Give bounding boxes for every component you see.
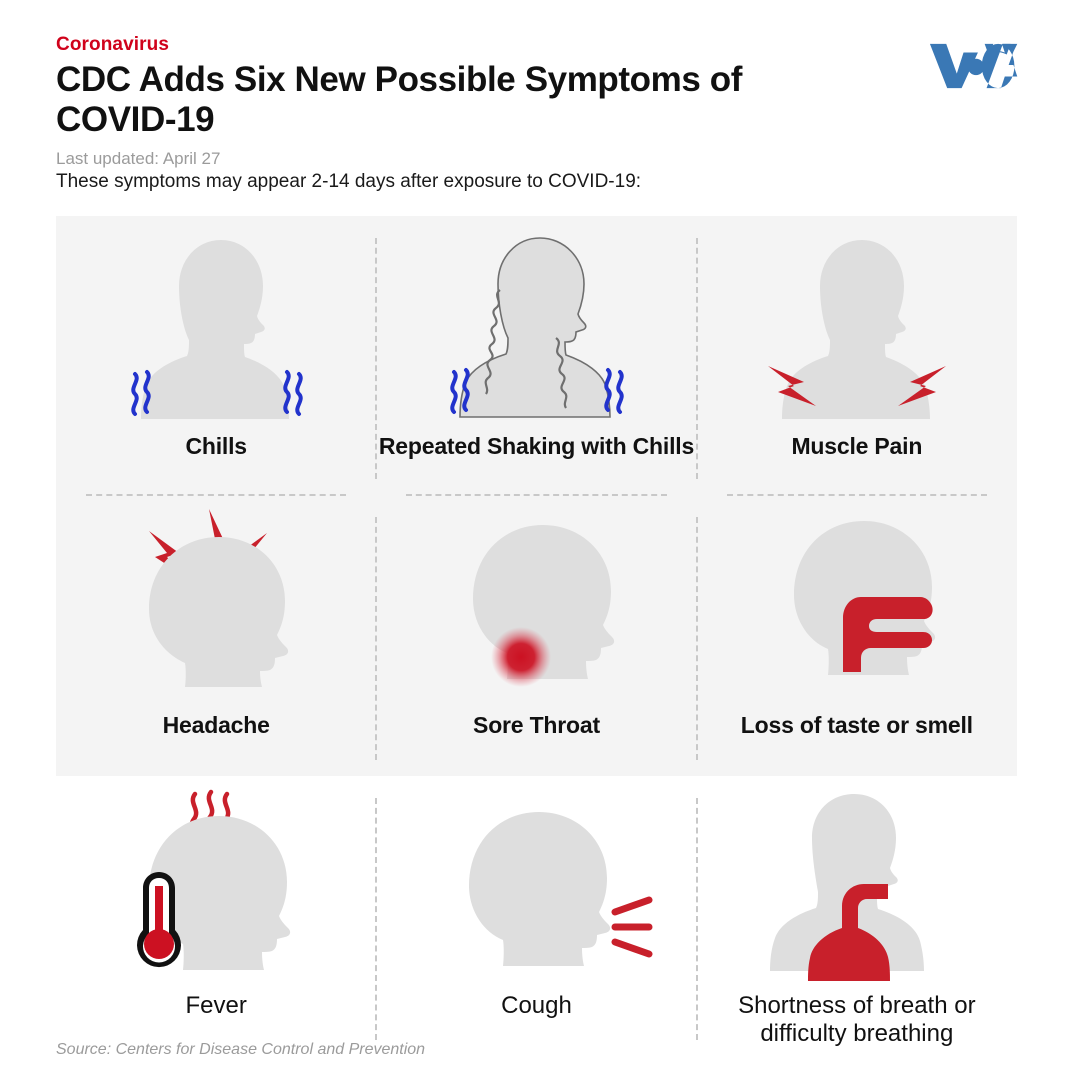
source-note: Source: Centers for Disease Control and … (56, 1040, 425, 1060)
symptom-label: Muscle Pain (791, 432, 922, 460)
infographic-page: Coronavirus CDC Adds Six New Possible Sy… (0, 0, 1080, 1080)
bust-with-red-trachea-lungs-icon (697, 786, 1017, 982)
row-divider (406, 494, 666, 496)
header: Coronavirus CDC Adds Six New Possible Sy… (56, 34, 1036, 169)
symptom-cell-repeated-shaking: Repeated Shaking with Chills (376, 216, 696, 495)
symptom-label: Shortness of breath or difficulty breath… (697, 992, 1017, 1048)
thermometer-shape (137, 872, 181, 967)
head-with-heat-waves-and-thermometer-icon (56, 786, 376, 982)
symptom-cell-cough: Cough (376, 776, 696, 1056)
symptom-label: Sore Throat (473, 711, 600, 739)
intro-text: These symptoms may appear 2-14 days afte… (56, 170, 641, 194)
bust-with-blue-shiver-lines-icon (56, 226, 376, 422)
row-divider (86, 494, 346, 496)
page-title: CDC Adds Six New Possible Symptoms of CO… (56, 60, 756, 140)
symptom-cell-shortness-of-breath: Shortness of breath or difficulty breath… (697, 776, 1017, 1056)
head-with-red-throat-glow-icon (376, 505, 696, 701)
symptom-cell-chills: Chills (56, 216, 376, 495)
bust-with-red-lightning-bolts-icon (697, 226, 1017, 422)
kicker-label: Coronavirus (56, 34, 1036, 56)
symptom-label: Fever (185, 992, 246, 1020)
voa-logo-icon (928, 38, 1024, 94)
symptoms-grid: Chills Repeated Shaking with Chi (56, 216, 1017, 1056)
symptom-cell-muscle-pain: Muscle Pain (697, 216, 1017, 495)
head-with-red-nasal-cavity-icon (697, 505, 1017, 701)
symptom-label: Loss of taste or smell (741, 711, 973, 739)
symptom-cell-headache: Headache (56, 495, 376, 776)
symptom-label: Repeated Shaking with Chills (379, 432, 694, 460)
symptom-label: Chills (185, 432, 246, 460)
head-with-red-cough-lines-icon (376, 786, 696, 982)
symptom-cell-fever: Fever (56, 776, 376, 1056)
last-updated-label: Last updated: April 27 (56, 149, 1036, 169)
symptom-cell-sore-throat: Sore Throat (376, 495, 696, 776)
symptom-cell-loss-of-taste-or-smell: Loss of taste or smell (697, 495, 1017, 776)
wavy-outline-bust-with-blue-shiver-lines-icon (376, 226, 696, 422)
row-divider (727, 494, 987, 496)
head-with-three-red-lightning-bolts-icon (56, 505, 376, 701)
symptom-label: Cough (501, 992, 572, 1020)
symptom-label: Headache (163, 711, 270, 739)
